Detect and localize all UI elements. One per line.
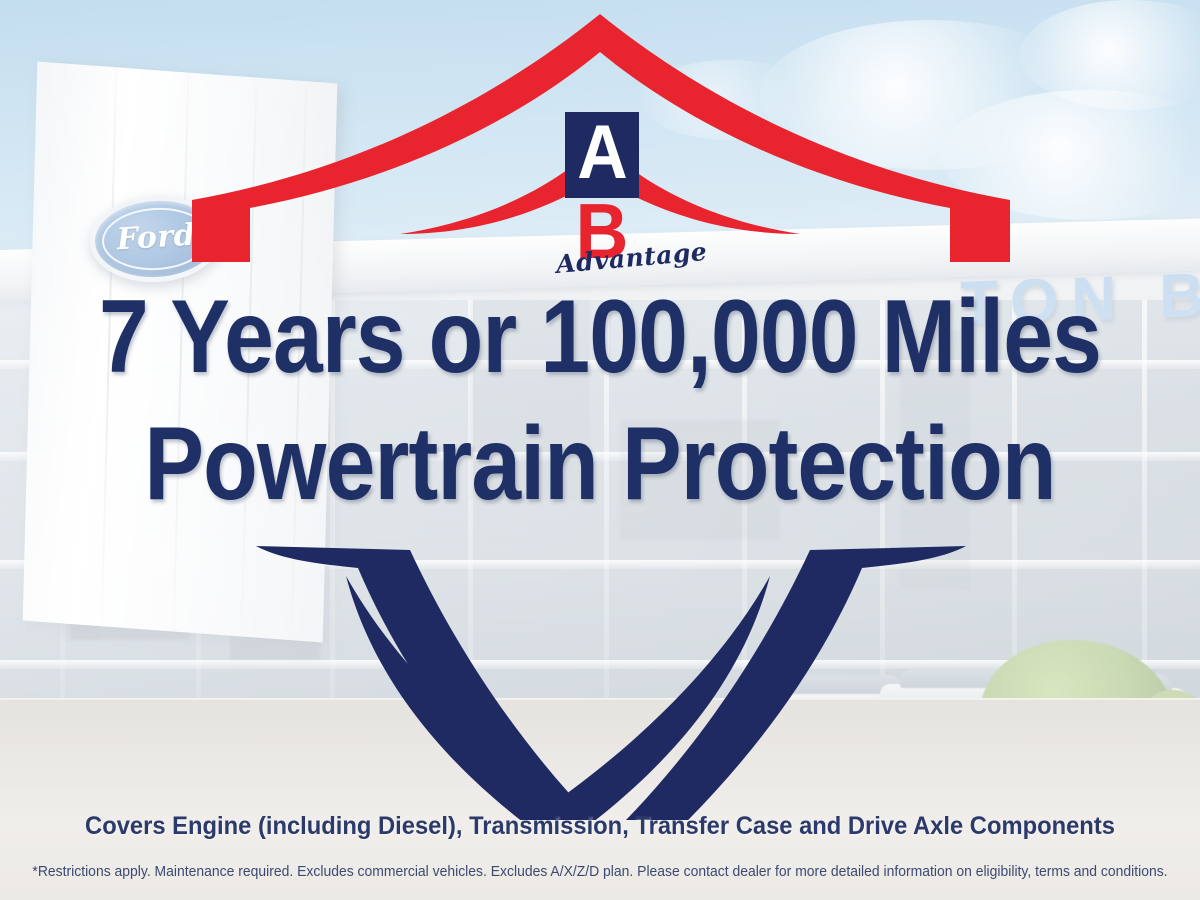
logo-letter-a: A <box>577 115 627 191</box>
promotional-banner: Ford TON BLA A B Advantage 7 Years or 10… <box>0 0 1200 900</box>
headline-line-2: Powertrain Protection <box>84 413 1116 516</box>
headline-line-1: 7 Years or 100,000 Miles <box>84 286 1116 389</box>
navy-chevron-graphic <box>240 520 980 820</box>
logo-letter-a-box: A <box>565 112 639 198</box>
legal-disclaimer: *Restrictions apply. Maintenance require… <box>27 864 1173 880</box>
headline: 7 Years or 100,000 Miles Powertrain Prot… <box>0 286 1200 516</box>
ab-advantage-logo: A B Advantage <box>556 112 648 292</box>
coverage-tagline: Covers Engine (including Diesel), Transm… <box>30 812 1170 841</box>
